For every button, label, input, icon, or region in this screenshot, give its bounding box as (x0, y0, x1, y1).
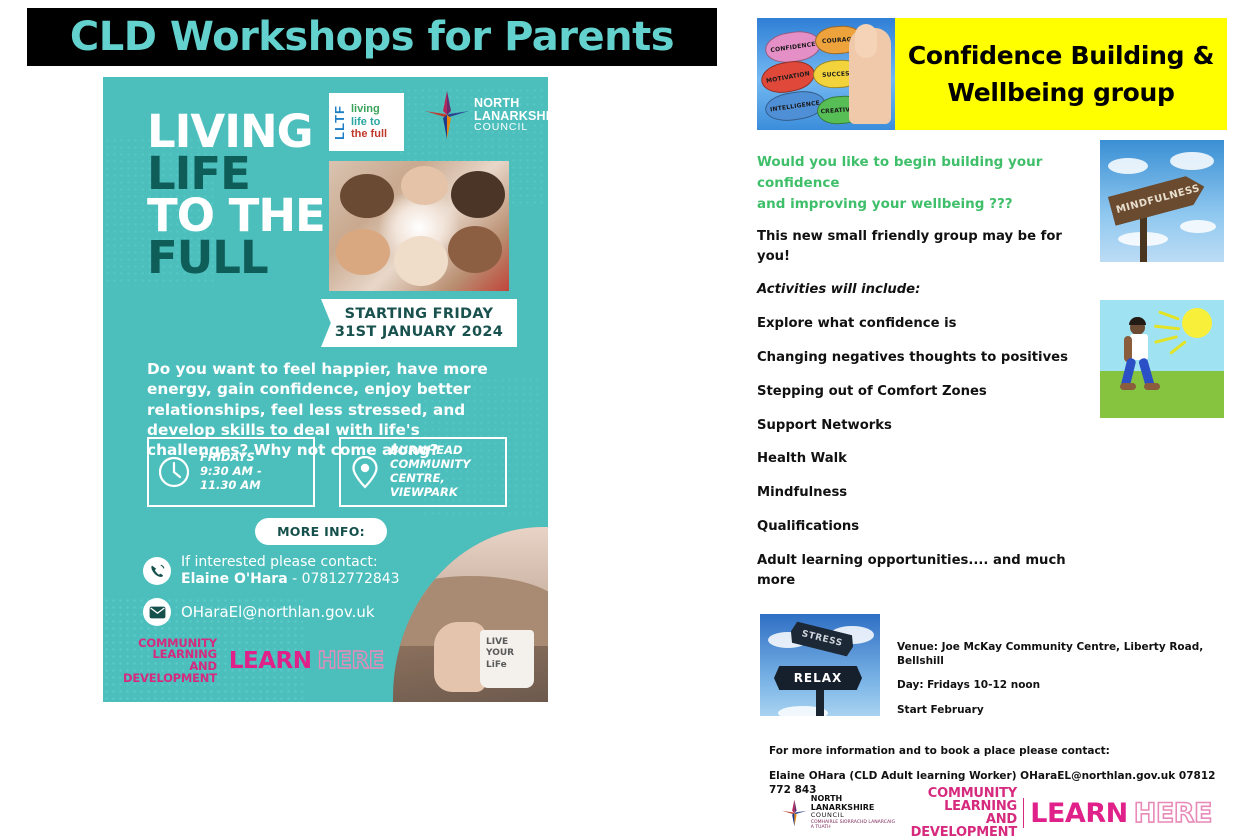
walker-hair (1129, 317, 1146, 325)
cloud (1108, 158, 1148, 174)
council-line3: COUNCIL (474, 122, 548, 133)
time-info-text: FRIDAYS 9:30 AM - 11.30 AM (200, 451, 262, 492)
footer-learn-word: LEARN (1030, 798, 1127, 829)
flyer-header: CONFIDENCE COURAGE MOTIVATION SUCCESS IN… (757, 18, 1227, 130)
council-line1: NORTH (474, 97, 548, 110)
page-title: CLD Workshops for Parents (70, 14, 674, 60)
footer-council-line2: LANARKSHIRE (811, 804, 898, 812)
activity-item: Stepping out of Comfort Zones (757, 382, 1087, 402)
sun-ray (1154, 325, 1180, 331)
council-logo-text: NORTH LANARKSHIRE COUNCIL (474, 97, 548, 133)
booking-intro: For more information and to book a place… (769, 744, 1229, 759)
activity-item: Health Walk (757, 449, 1087, 469)
lltf-logo-line2: life to (351, 116, 387, 129)
activity-item: Support Networks (757, 416, 1087, 436)
photo-face (336, 229, 390, 276)
activity-item: Mindfulness (757, 483, 1087, 503)
mug-cup-text: LIVE YOUR LiFe (486, 637, 514, 671)
sun-ray (1154, 335, 1178, 344)
poster-info-boxes: FRIDAYS 9:30 AM - 11.30 AM BURNHEAD COMM… (147, 437, 507, 507)
lltf-logo-mark: LLTF (333, 105, 346, 140)
poster-headline: LIVING LIFE TO THE FULL (147, 111, 327, 278)
lltf-logo-words: living life to the full (351, 103, 387, 141)
sun-ray (1169, 340, 1187, 355)
phone-icon (143, 557, 171, 585)
walker-foot (1120, 383, 1136, 390)
flyer-text-column: Would you like to begin building your co… (757, 152, 1087, 590)
living-life-to-the-full-poster: LLTF living life to the full NORTH LA (103, 77, 548, 702)
lltf-logo: LLTF living life to the full (329, 93, 404, 151)
contact-email: OHaraEl@northlan.gov.uk (181, 603, 375, 621)
time-info-box: FRIDAYS 9:30 AM - 11.30 AM (147, 437, 315, 507)
contact-name: Elaine O'Hara (181, 571, 288, 587)
ribbon-line2: 31ST JANUARY 2024 (335, 323, 503, 341)
start-line: Start February (897, 703, 1227, 717)
poster-cld-learn-here-logo: COMMUNITY LEARNING AND DEVELOPMENT LEARN… (123, 644, 383, 678)
flyer-title-banner: Confidence Building & Wellbeing group (895, 18, 1227, 130)
flyer-question-line2: and improving your wellbeing ??? (757, 194, 1087, 215)
photo-face (394, 236, 448, 285)
footer-cld-line1: COMMUNITY LEARNING (910, 787, 1017, 814)
cloud (1170, 152, 1214, 170)
mug-line2: YOUR (486, 648, 514, 659)
stress-relax-signpost-image: STRESS RELAX (760, 614, 880, 716)
clock-icon (157, 455, 191, 489)
footer-cld-divider (1023, 798, 1024, 828)
council-star-icon (782, 796, 807, 830)
grass (1100, 371, 1224, 418)
photo-face (448, 226, 502, 273)
cld-words: COMMUNITY LEARNING AND DEVELOPMENT (123, 638, 217, 685)
footer-council-line3: COUNCIL (811, 812, 898, 819)
mindfulness-sign-label: MINDFULNESS (1115, 183, 1201, 216)
time-line2: 9:30 AM - (200, 465, 262, 479)
north-lanarkshire-council-logo: NORTH LANARKSHIRE COUNCIL (425, 89, 545, 141)
stress-sign-label: STRESS (800, 629, 843, 649)
cld-learn-word: LEARN (229, 648, 312, 674)
starting-date-ribbon: STARTING FRIDAY 31ST JANUARY 2024 (321, 299, 517, 347)
activity-item: Adult learning opportunities.... and muc… (757, 551, 1087, 591)
venue-details-block: Venue: Joe McKay Community Centre, Liber… (897, 640, 1227, 727)
more-info-pill: MORE INFO: (255, 518, 387, 545)
thumbs-up-hand (849, 28, 891, 124)
activities-label: Activities will include: (757, 280, 1087, 300)
cld-line1: COMMUNITY LEARNING (123, 638, 217, 661)
time-line3: 11.30 AM (200, 479, 262, 493)
group-of-people-photo (329, 161, 509, 291)
photo-face (451, 171, 505, 218)
mindfulness-signpost-image: MINDFULNESS (1100, 140, 1224, 262)
walker-torso (1130, 334, 1148, 360)
envelope-icon (143, 598, 171, 626)
venue-line4: VIEWPARK (390, 486, 471, 500)
cld-line2: AND DEVELOPMENT (123, 661, 217, 684)
ribbon-text: STARTING FRIDAY 31ST JANUARY 2024 (335, 305, 503, 341)
flyer-body: Would you like to begin building your co… (757, 152, 1227, 590)
contact-phone: - 07812772843 (292, 571, 399, 587)
flyer-title-line1: Confidence Building & (908, 41, 1214, 70)
venue-line: Venue: Joe McKay Community Centre, Liber… (897, 640, 1227, 668)
flyer-footer-logos: NORTH LANARKSHIRE COUNCIL COMHAIRLE SIOR… (782, 792, 1212, 834)
contact-name-line: Elaine O'Hara - 07812772843 (181, 571, 400, 588)
venue-info-text: BURNHEAD COMMUNITY CENTRE, VIEWPARK (390, 444, 471, 499)
venue-info-box: BURNHEAD COMMUNITY CENTRE, VIEWPARK (339, 437, 507, 507)
relax-sign: RELAX (774, 666, 862, 690)
signpost-pole (816, 686, 824, 716)
contact-intro: If interested please contact: (181, 554, 400, 571)
location-pin-icon (349, 454, 381, 490)
footer-here-word: HERE (1134, 798, 1212, 829)
flyer-question: Would you like to begin building your co… (757, 152, 1087, 215)
footer-cld-words: COMMUNITY LEARNING AND DEVELOPMENT (910, 787, 1017, 840)
flyer-question-line1: Would you like to begin building your co… (757, 152, 1087, 194)
footer-cld-learn-here-logo: COMMUNITY LEARNING AND DEVELOPMENT LEARN… (910, 787, 1212, 840)
mug-photo-hand (434, 622, 486, 692)
slide-canvas: CLD Workshops for Parents LLTF living li… (0, 0, 1260, 711)
speech-bubbles-thumbs-up-image: CONFIDENCE COURAGE MOTIVATION SUCCESS IN… (757, 18, 895, 130)
footer-council-line1: NORTH (811, 795, 898, 803)
day-line: Day: Fridays 10-12 noon (897, 678, 1227, 692)
activity-item: Changing negatives thoughts to positives (757, 348, 1087, 368)
title-banner: CLD Workshops for Parents (27, 8, 717, 66)
flyer-title-line2: Wellbeing group (947, 78, 1174, 107)
lltf-logo-line1: living (351, 103, 387, 116)
mindfulness-sign: MINDFULNESS (1108, 172, 1208, 226)
confidence-building-flyer: CONFIDENCE COURAGE MOTIVATION SUCCESS IN… (757, 18, 1227, 698)
venue-line3: CENTRE, (390, 472, 471, 486)
more-info-label: MORE INFO: (277, 524, 365, 539)
ribbon-line1: STARTING FRIDAY (335, 305, 503, 323)
venue-line1: BURNHEAD (390, 444, 471, 458)
footer-council-line4: COMHAIRLE SIORRACHD LANARCAIG A TUATH (811, 821, 898, 831)
cloud (1180, 220, 1216, 233)
sun-ray (1158, 310, 1180, 320)
time-line1: FRIDAYS (200, 451, 262, 465)
contact-text: If interested please contact: Elaine O'H… (181, 554, 400, 588)
activity-item: Qualifications (757, 517, 1087, 537)
cld-here-word: HERE (317, 648, 383, 674)
live-your-life-mug-photo: LIVE YOUR LiFe (393, 527, 548, 702)
photo-face (401, 166, 448, 205)
council-star-icon (425, 91, 469, 139)
health-walk-illustration (1100, 300, 1224, 418)
photo-face (340, 174, 394, 218)
mug-line3: LiFe (486, 660, 514, 671)
headline-line4: FULL (147, 237, 327, 279)
walker-legs (1122, 358, 1156, 388)
footer-council-logo: NORTH LANARKSHIRE COUNCIL COMHAIRLE SIOR… (782, 795, 898, 830)
relax-sign-label: RELAX (794, 671, 843, 685)
mug-line1: LIVE (486, 637, 514, 648)
activity-item: Explore what confidence is (757, 314, 1087, 334)
flyer-intro: This new small friendly group may be for… (757, 227, 1087, 267)
mug-cup: LIVE YOUR LiFe (480, 630, 534, 688)
footer-council-text: NORTH LANARKSHIRE COUNCIL COMHAIRLE SIOR… (811, 795, 898, 830)
walker-foot (1144, 383, 1160, 390)
footer-cld-line2: AND DEVELOPMENT (910, 813, 1017, 840)
sun-icon (1182, 308, 1212, 338)
lltf-logo-line3: the full (351, 128, 387, 141)
venue-line2: COMMUNITY (390, 458, 471, 472)
